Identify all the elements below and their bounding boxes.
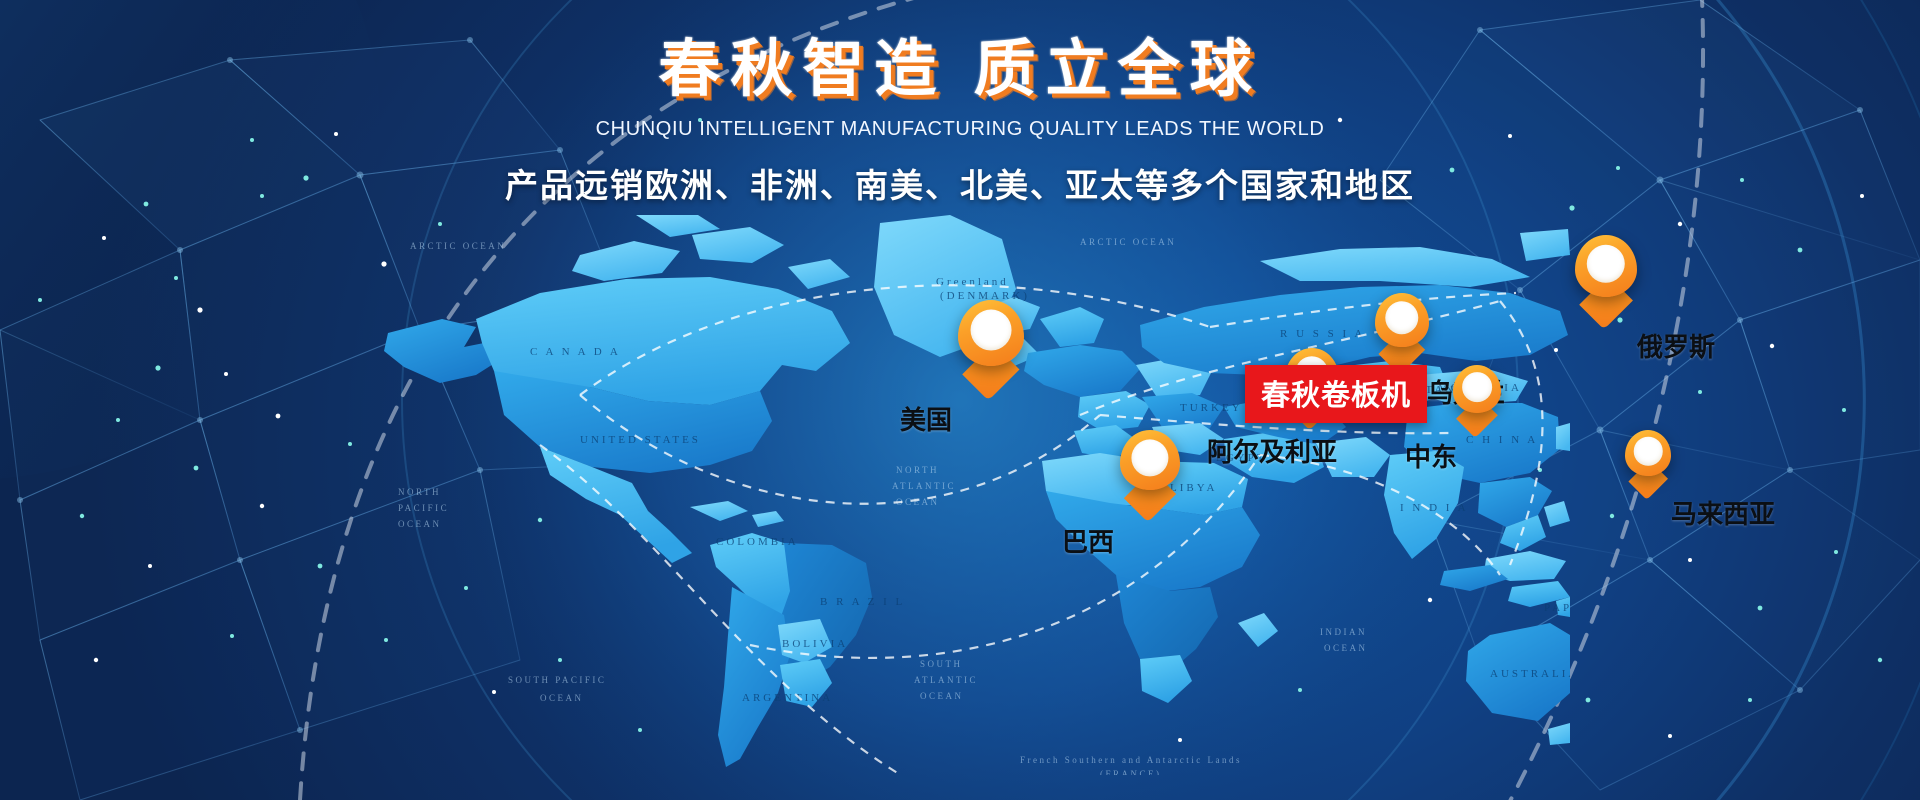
map-marker-label-middle-east: 中东 (1405, 437, 1457, 474)
svg-text:B R A Z I L: B R A Z I L (820, 596, 905, 608)
svg-text:ATLANTIC: ATLANTIC (914, 675, 978, 685)
svg-text:BOLIVIA: BOLIVIA (782, 638, 848, 650)
svg-text:C A N A D A: C A N A D A (530, 346, 621, 358)
svg-text:AUSTRALIA: AUSTRALIA (1490, 668, 1570, 680)
svg-text:TURKEY: TURKEY (1180, 402, 1243, 414)
svg-text:NORTH: NORTH (398, 487, 441, 497)
svg-text:I N D I A: I N D I A (1400, 502, 1469, 514)
map-marker-malaysia[interactable]: 马来西亚 (1625, 430, 1671, 476)
svg-text:PAPUA: PAPUA (1544, 602, 1570, 614)
map-marker-ukraine[interactable]: 乌克兰 (1375, 293, 1429, 347)
pin-inner-circle (1462, 372, 1492, 402)
location-pin-icon (958, 300, 1024, 366)
subtitle-chinese: 产品远销欧洲、非洲、南美、北美、亚太等多个国家和地区 (0, 159, 1920, 207)
svg-text:French Southern and Antarctic: French Southern and Antarctic Lands (1020, 755, 1242, 765)
pin-inner-circle (1385, 301, 1418, 334)
map-marker-label-malaysia: 马来西亚 (1671, 494, 1775, 531)
pin-inner-circle (1587, 244, 1625, 282)
svg-text:INDIAN: INDIAN (1320, 627, 1367, 637)
svg-text:COLOMBIA: COLOMBIA (716, 536, 799, 548)
location-pin-icon (1120, 430, 1180, 490)
location-pin-icon (1375, 293, 1429, 347)
brand-badge[interactable]: 春秋卷板机 (1245, 365, 1427, 423)
svg-text:OCEAN: OCEAN (1324, 643, 1368, 653)
map-marker-label-russia: 俄罗斯 (1637, 327, 1715, 364)
svg-text:NORTH: NORTH (896, 465, 939, 475)
headline-block: 春秋智造 质立全球 CHUNQIU INTELLIGENT MANUFACTUR… (0, 36, 1920, 207)
svg-text:OCEAN: OCEAN (398, 519, 442, 529)
world-map-region: ARCTIC OCEAN ARCTIC OCEAN NORTHPACIFICOC… (0, 215, 1920, 775)
map-marker-usa[interactable]: 美国 (958, 300, 1024, 366)
subtitle-english: CHUNQIU INTELLIGENT MANUFACTURING QUALIT… (0, 118, 1920, 141)
map-marker-label-usa: 美国 (900, 400, 952, 437)
page-title: 春秋智造 质立全球 (0, 36, 1920, 104)
svg-text:R U S S I A: R U S S I A (1280, 328, 1365, 340)
map-marker-russia[interactable]: 俄罗斯 (1575, 235, 1637, 297)
map-marker-brazil[interactable]: 巴西 (1120, 430, 1180, 490)
svg-text:ARGENTINA: ARGENTINA (742, 692, 833, 704)
location-pin-icon (1625, 430, 1671, 476)
map-marker-middle-east[interactable]: 中东 (1453, 365, 1501, 413)
svg-text:(FRANCE): (FRANCE) (1100, 769, 1162, 775)
global-network-banner: 春秋智造 质立全球 CHUNQIU INTELLIGENT MANUFACTUR… (0, 0, 1920, 800)
location-pin-icon (1575, 235, 1637, 297)
svg-text:SOUTH: SOUTH (920, 659, 963, 669)
svg-text:SOUTH PACIFIC: SOUTH PACIFIC (508, 675, 606, 685)
svg-text:ARCTIC OCEAN: ARCTIC OCEAN (1080, 237, 1176, 247)
pin-inner-circle (971, 310, 1012, 351)
pin-inner-circle (1634, 437, 1663, 466)
pin-inner-circle (1131, 439, 1168, 476)
location-pin-icon (1453, 365, 1501, 413)
svg-text:ARCTIC OCEAN: ARCTIC OCEAN (410, 241, 506, 251)
svg-text:OCEAN: OCEAN (540, 693, 584, 703)
svg-text:OCEAN: OCEAN (920, 691, 964, 701)
svg-text:PACIFIC: PACIFIC (398, 503, 449, 513)
svg-text:ATLANTIC: ATLANTIC (892, 481, 956, 491)
map-marker-label-algeria: 阿尔及利亚 (1207, 432, 1337, 469)
map-marker-label-brazil: 巴西 (1062, 522, 1114, 559)
